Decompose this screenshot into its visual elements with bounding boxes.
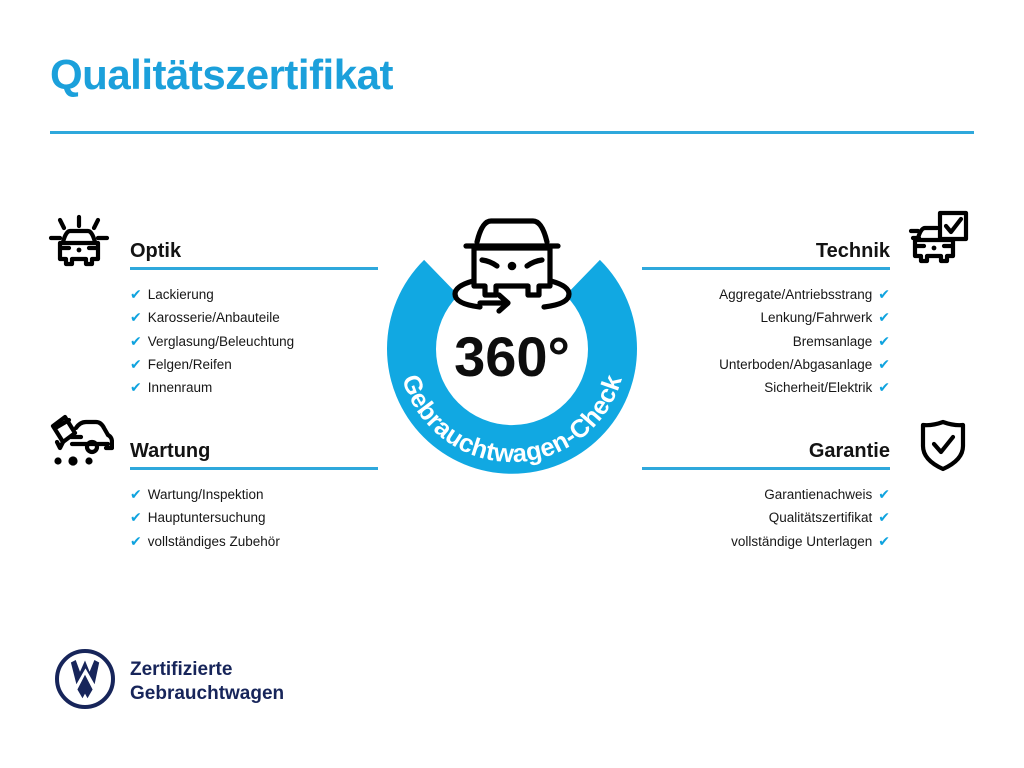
- list-item: ✔Verglasung/Beleuchtung: [130, 330, 378, 353]
- list-item: Garantienachweis✔: [642, 483, 890, 506]
- list-item: ✔Innenraum: [130, 376, 378, 399]
- list-garantie: Garantienachweis✔ Qualitätszertifikat✔ v…: [642, 483, 890, 553]
- list-item: ✔Felgen/Reifen: [130, 353, 378, 376]
- check-icon: ✔: [878, 486, 890, 502]
- list-wartung: ✔Wartung/Inspektion ✔Hauptuntersuchung ✔…: [130, 483, 378, 553]
- car-rotate-360-icon: [455, 221, 569, 311]
- car-shine-icon: [48, 212, 110, 275]
- section-title-wartung: Wartung: [130, 440, 378, 463]
- list-item-label: Qualitätszertifikat: [769, 510, 873, 525]
- list-item-label: vollständiges Zubehör: [148, 534, 280, 549]
- list-item-label: Unterboden/Abgasanlage: [719, 357, 872, 372]
- badge-center-label: 360°: [454, 325, 570, 388]
- check-icon: ✔: [130, 486, 142, 502]
- vw-wordmark-line2: Gebrauchtwagen: [130, 683, 284, 704]
- check-icon: ✔: [130, 509, 142, 525]
- section-divider-garantie: [642, 467, 890, 470]
- list-item-label: Lackierung: [148, 287, 214, 302]
- car-service-tool-icon: [48, 414, 114, 475]
- list-item: Lenkung/Fahrwerk✔: [642, 306, 890, 329]
- check-icon: ✔: [130, 286, 142, 302]
- list-item-label: Bremsanlage: [793, 334, 873, 349]
- check-icon: ✔: [878, 356, 890, 372]
- section-garantie: Garantie Garantienachweis✔ Qualitätszert…: [642, 440, 890, 553]
- list-item: ✔Hauptuntersuchung: [130, 506, 378, 529]
- check-icon: ✔: [878, 333, 890, 349]
- list-item-label: Lenkung/Fahrwerk: [760, 310, 872, 325]
- check-icon: ✔: [878, 309, 890, 325]
- list-item: ✔Wartung/Inspektion: [130, 483, 378, 506]
- list-item-label: Karosserie/Anbauteile: [148, 310, 280, 325]
- list-item-label: Felgen/Reifen: [148, 357, 232, 372]
- list-optik: ✔Lackierung ✔Karosserie/Anbauteile ✔Verg…: [130, 283, 378, 399]
- section-divider-wartung: [130, 467, 378, 470]
- list-item-label: Aggregate/Antriebsstrang: [719, 287, 872, 302]
- list-item: Bremsanlage✔: [642, 330, 890, 353]
- section-wartung: Wartung ✔Wartung/Inspektion ✔Hauptunters…: [130, 440, 378, 553]
- badge-360-check: Gebrauchtwagen-Check 360°: [362, 198, 662, 498]
- list-item-label: Garantienachweis: [764, 487, 872, 502]
- list-item: Sicherheit/Elektrik✔: [642, 376, 890, 399]
- check-icon: ✔: [130, 356, 142, 372]
- list-item: Unterboden/Abgasanlage✔: [642, 353, 890, 376]
- shield-check-icon: [918, 418, 968, 477]
- list-item-label: Hauptuntersuchung: [148, 510, 266, 525]
- vw-wordmark: Zertifizierte Gebrauchtwagen: [130, 658, 284, 706]
- list-item: ✔Karosserie/Anbauteile: [130, 306, 378, 329]
- section-optik: Optik ✔Lackierung ✔Karosserie/Anbauteile…: [130, 240, 378, 399]
- list-item: ✔Lackierung: [130, 283, 378, 306]
- title-divider: [50, 131, 974, 134]
- section-title-optik: Optik: [130, 240, 378, 263]
- check-icon: ✔: [878, 509, 890, 525]
- check-icon: ✔: [130, 379, 142, 395]
- list-item-label: Verglasung/Beleuchtung: [148, 334, 294, 349]
- check-icon: ✔: [878, 533, 890, 549]
- list-item-label: Wartung/Inspektion: [148, 487, 264, 502]
- page-title: Qualitätszertifikat: [50, 54, 393, 96]
- list-item: vollständige Unterlagen✔: [642, 530, 890, 553]
- list-item-label: Innenraum: [148, 380, 213, 395]
- list-item-label: Sicherheit/Elektrik: [764, 380, 872, 395]
- section-technik: Technik Aggregate/Antriebsstrang✔ Lenkun…: [642, 240, 890, 399]
- list-item: ✔vollständiges Zubehör: [130, 530, 378, 553]
- section-title-garantie: Garantie: [642, 440, 890, 463]
- section-title-technik: Technik: [642, 240, 890, 263]
- list-technik: Aggregate/Antriebsstrang✔ Lenkung/Fahrwe…: [642, 283, 890, 399]
- check-icon: ✔: [878, 379, 890, 395]
- car-checklist-icon: [908, 210, 970, 273]
- check-icon: ✔: [130, 533, 142, 549]
- section-divider-optik: [130, 267, 378, 270]
- check-icon: ✔: [130, 309, 142, 325]
- list-item: Aggregate/Antriebsstrang✔: [642, 283, 890, 306]
- section-divider-technik: [642, 267, 890, 270]
- list-item-label: vollständige Unterlagen: [731, 534, 872, 549]
- check-icon: ✔: [130, 333, 142, 349]
- check-icon: ✔: [878, 286, 890, 302]
- vw-footer-lockup: Zertifizierte Gebrauchtwagen: [54, 648, 284, 715]
- vw-wordmark-line1: Zertifizierte: [130, 659, 232, 680]
- vw-logo: [54, 648, 116, 715]
- list-item: Qualitätszertifikat✔: [642, 506, 890, 529]
